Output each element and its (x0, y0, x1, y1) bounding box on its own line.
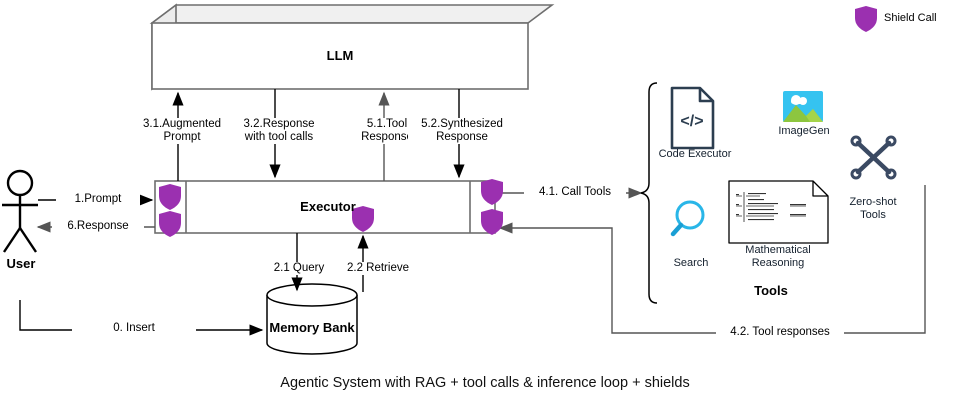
edge-label-retrieve: 2.2 Retrieve (334, 262, 422, 275)
diagram-caption: Agentic System with RAG + tool calls & i… (0, 375, 970, 391)
node-user-label: User (0, 256, 42, 271)
edge-label-call-tools: 4.1. Call Tools (524, 186, 626, 199)
edge-label-prompt: 1.Prompt (56, 193, 140, 206)
edge-label-query: 2.1 Query (258, 262, 340, 275)
edge-label-tool-responses: 4.2. Tool responses (716, 326, 844, 339)
node-memory-bank[interactable] (267, 284, 357, 354)
edge-label-augmented-prompt: 3.1.Augmented Prompt (133, 118, 231, 144)
node-llm[interactable] (152, 5, 552, 89)
edge-label-insert: 0. Insert (72, 322, 196, 335)
magnifier-icon[interactable] (673, 202, 703, 234)
node-memory-bank-label: Memory Bank (262, 320, 362, 335)
tools-group-brace (641, 83, 657, 303)
tool-label-mathematical-reasoning: Mathematical Reasoning (728, 244, 828, 270)
tool-label-imagegen: ImageGen (763, 125, 845, 138)
node-executor-label: Executor (186, 199, 470, 214)
shield-icon-legend (855, 6, 877, 32)
edge-label-response: 6.Response (52, 220, 144, 233)
node-llm-label: LLM (0, 48, 680, 63)
tools-group-label: Tools (716, 283, 826, 298)
crossed-wrenches-icon[interactable] (852, 137, 895, 178)
tool-label-zero-shot-tools: Zero-shot Tools (836, 196, 910, 222)
legend-label: Shield Call (884, 12, 964, 25)
tool-label-search: Search (655, 257, 727, 270)
edge-label-synthesized-response: 5.2.Synthesized Response (408, 118, 516, 144)
edge-label-response-tool-calls: 3.2.Response with tool calls (228, 118, 330, 144)
code-document-icon[interactable]: </> (672, 88, 713, 148)
node-user[interactable] (2, 171, 38, 252)
svg-text:</>: </> (680, 113, 703, 130)
math-formula-document-icon[interactable] (729, 181, 828, 243)
image-picture-icon[interactable] (783, 91, 823, 122)
tool-label-code-executor: Code Executor (645, 148, 745, 161)
